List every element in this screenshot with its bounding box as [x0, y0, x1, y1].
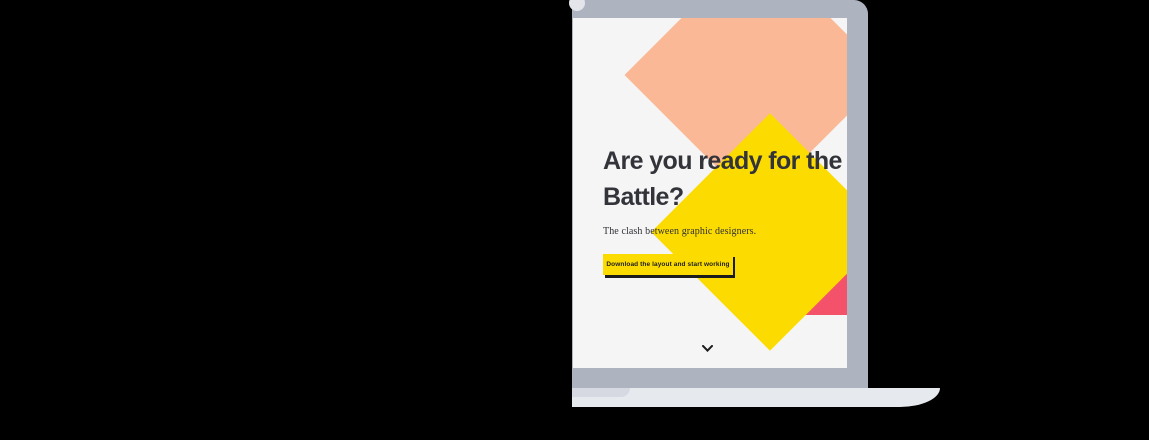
chevron-down-icon [702, 339, 713, 357]
hero-content: Are you ready for the Battle? The clash … [603, 144, 847, 276]
download-layout-button[interactable]: Download the layout and start working [603, 254, 733, 275]
laptop-bottom-bezel [572, 368, 868, 389]
cta-button-wrapper: Download the layout and start working [603, 254, 733, 276]
laptop-mockup: Are you ready for the Battle? The clash … [0, 0, 1149, 440]
scroll-down-button[interactable] [699, 340, 715, 356]
page-title: Are you ready for the Battle? [603, 144, 847, 215]
page-subtitle: The clash between graphic designers. [603, 225, 847, 238]
screenshot-stage: Are you ready for the Battle? The clash … [0, 0, 1149, 440]
laptop-base-notch [572, 388, 630, 397]
browser-viewport: Are you ready for the Battle? The clash … [573, 18, 847, 368]
